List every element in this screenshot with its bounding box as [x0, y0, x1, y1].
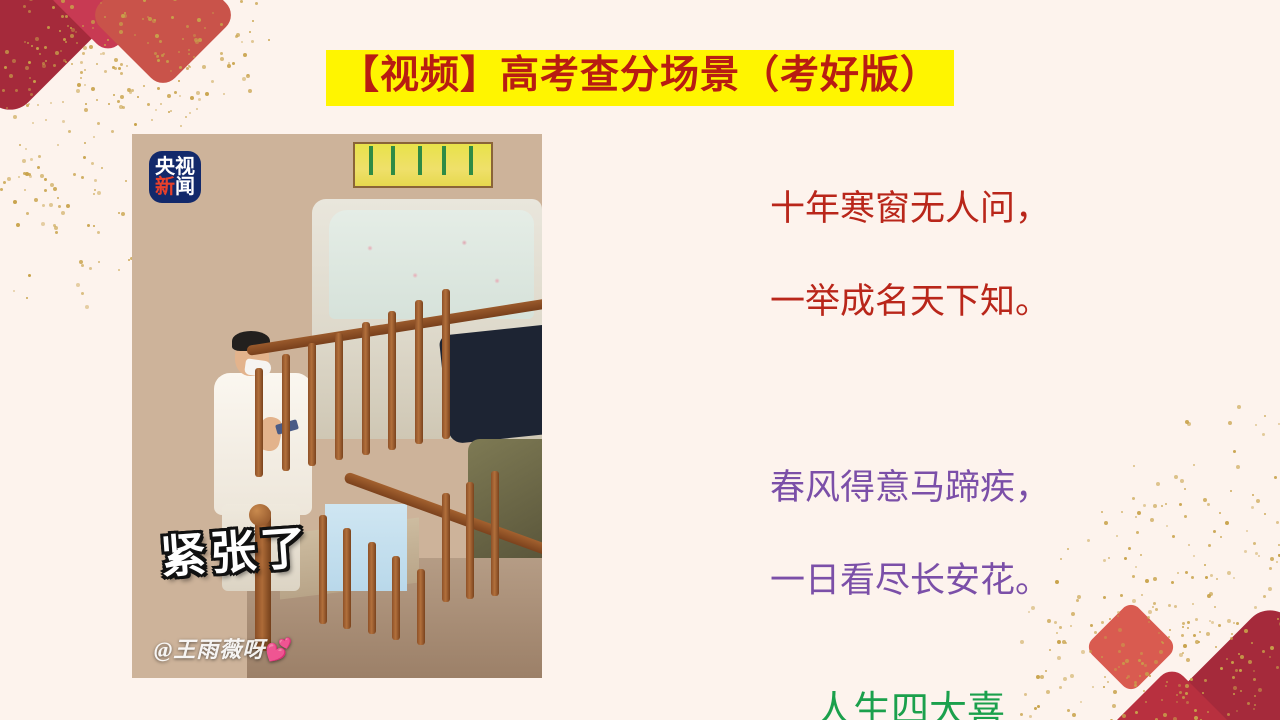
- title-container: 【视频】高考查分场景（考好版）: [0, 50, 1280, 106]
- poem-purple: 春风得意马蹄疾， 一日看尽长安花。: [580, 419, 1240, 650]
- poem-red-line-1: 十年寒窗无人问，: [580, 186, 1240, 232]
- slide-root: 【视频】高考查分场景（考好版） 央: [0, 0, 1280, 720]
- photo-watermark: @王雨薇呀💕: [154, 632, 294, 664]
- photo-sofa-cushion: [329, 210, 534, 319]
- logo-char-yang: 央: [155, 157, 175, 177]
- photo-caption-overlay: 紧张了: [158, 511, 312, 587]
- cctv-news-logo: 央 视 新 闻: [149, 151, 201, 203]
- logo-char-wen: 闻: [175, 177, 195, 197]
- watermark-handle: @王雨薇呀: [154, 637, 265, 662]
- photo-dark-object: [438, 325, 542, 444]
- video-thumbnail[interactable]: 央 视 新 闻 紧张了 @王雨薇呀💕: [132, 134, 542, 678]
- poem-red-line-2: 一举成名天下知。: [580, 279, 1240, 325]
- photo-wall-artwork: [353, 142, 492, 188]
- four-joys-block: 人生四大喜 久旱逢甘雨、他乡遇故知 洞房花烛夜、金榜题名时: [580, 688, 1240, 720]
- poem-purple-line-1: 春风得意马蹄疾，: [580, 465, 1240, 511]
- four-joys-title: 人生四大喜: [580, 688, 1240, 720]
- poem-purple-line-2: 一日看尽长安花。: [580, 558, 1240, 604]
- heart-icon: 💕: [265, 637, 293, 662]
- logo-char-shi: 视: [175, 157, 195, 177]
- text-column: 十年寒窗无人问， 一举成名天下知。 春风得意马蹄疾， 一日看尽长安花。 人生四大…: [580, 140, 1240, 720]
- poem-red: 十年寒窗无人问， 一举成名天下知。: [580, 140, 1240, 371]
- logo-char-xin: 新: [155, 177, 175, 197]
- page-title: 【视频】高考查分场景（考好版）: [326, 50, 954, 106]
